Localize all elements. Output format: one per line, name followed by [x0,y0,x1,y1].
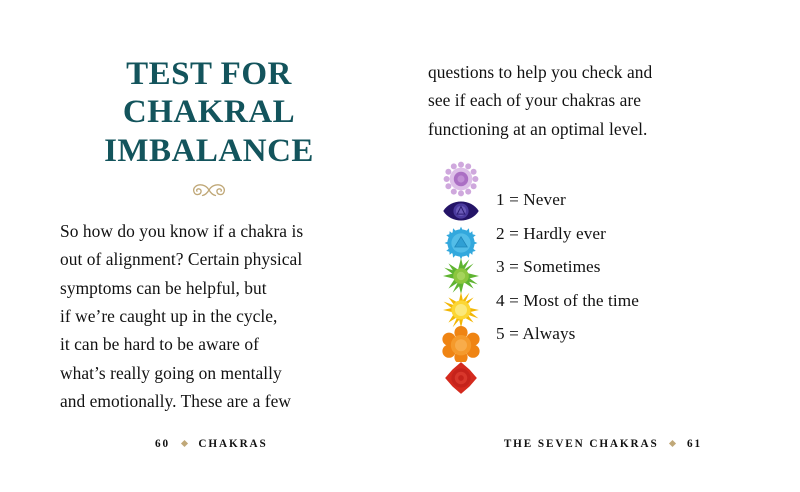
page-title-line-1: TEST FOR [66,55,352,93]
body-line-1: So how do you know if a chakra is [60,217,358,245]
body-line-5: it can be hard to be aware of [60,330,358,358]
body-line-7: and emotionally. These are a few [60,387,358,415]
body-line-6: what’s really going on mentally [60,359,358,387]
body-line-4: if we’re caught up in the cycle, [60,302,358,330]
throat-chakra-icon [442,226,480,260]
scale-item-5: 5 = Always [496,325,639,359]
intro-line-2: see if each of your chakras are [428,86,720,114]
intro-line-3: functioning at an optimal level. [428,115,720,143]
scale-item-1: 1 = Never [496,191,639,225]
heart-chakra-icon [442,258,480,294]
third-eye-chakra-icon [442,196,480,226]
left-page-footer: 60 CHAKRAS [155,438,268,450]
chakra-icon-stack [438,161,484,395]
crown-chakra-icon [442,161,480,197]
root-chakra-icon [442,361,480,395]
body-line-3: symptoms can be helpful, but [60,274,358,302]
left-page-number: 60 [155,438,170,450]
left-footer-section: CHAKRAS [198,438,267,450]
folio-diamond-icon [181,440,188,447]
body-paragraph: So how do you know if a chakra is out of… [60,217,358,416]
page-title-line-2: CHAKRAL [66,93,352,131]
scale-item-4: 4 = Most of the time [496,292,639,326]
double-spiral-infinity-ornament [182,179,236,201]
right-footer-section: THE SEVEN CHAKRAS [504,438,659,450]
book-spread: TEST FOR CHAKRAL IMBALANCE So how do you… [0,0,800,492]
right-page-footer: THE SEVEN CHAKRAS 61 [504,438,702,450]
scale-item-3: 3 = Sometimes [496,258,639,292]
chakra-scale-legend: 1 = Never 2 = Hardly ever 3 = Sometimes … [428,161,720,421]
page-title: TEST FOR CHAKRAL IMBALANCE [60,55,358,170]
intro-line-1: questions to help you check and [428,58,720,86]
page-title-line-3: IMBALANCE [66,132,352,170]
solar-plexus-chakra-icon [442,292,480,328]
body-line-2: out of alignment? Certain physical [60,245,358,273]
intro-paragraph: questions to help you check and see if e… [428,58,720,143]
scale-item-2: 2 = Hardly ever [496,225,639,259]
right-page: questions to help you check and see if e… [400,0,800,492]
folio-diamond-icon [669,440,676,447]
rating-scale-list: 1 = Never 2 = Hardly ever 3 = Sometimes … [496,191,639,359]
right-page-number: 61 [687,438,702,450]
sacral-chakra-icon [442,326,480,362]
left-page: TEST FOR CHAKRAL IMBALANCE So how do you… [0,0,400,492]
